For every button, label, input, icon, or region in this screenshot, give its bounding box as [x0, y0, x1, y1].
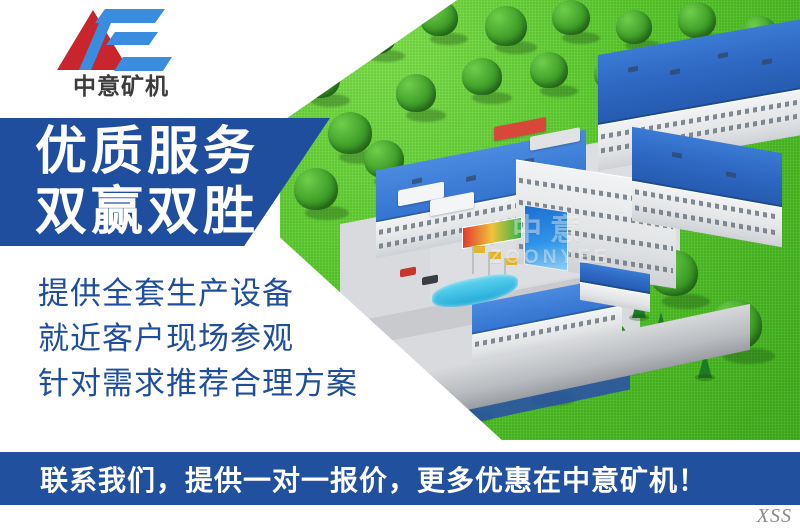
- logo-mark-icon: [55, 6, 185, 76]
- headline-line-1: 优质服务: [35, 126, 315, 178]
- corner-watermark: XSS: [757, 505, 792, 528]
- billboard: [524, 205, 568, 272]
- footer-cta-text: 联系我们，提供一对一报价，更多优惠在中意矿机！: [40, 459, 707, 499]
- benefit-list: 提供全套生产设备 就近客户现场参观 针对需求推荐合理方案: [38, 272, 398, 407]
- headline-line-2: 双赢双胜: [35, 186, 315, 238]
- brand-logo[interactable]: 中意矿机: [55, 6, 185, 106]
- footer-cta-bar[interactable]: 联系我们，提供一对一报价，更多优惠在中意矿机！: [0, 452, 800, 505]
- promo-poster: 中意 ZOONYEE 中意矿机 优质服务 双赢双胜 提供全套生产设备 就近客户现…: [0, 0, 800, 530]
- headline: 优质服务 双赢双胜: [35, 126, 315, 238]
- logo-company-name: 中意矿机: [57, 76, 185, 99]
- benefit-item-2: 就近客户现场参观: [38, 317, 398, 362]
- benefit-item-3: 针对需求推荐合理方案: [38, 362, 398, 407]
- flagpole: [472, 246, 474, 274]
- benefit-item-1: 提供全套生产设备: [38, 272, 398, 317]
